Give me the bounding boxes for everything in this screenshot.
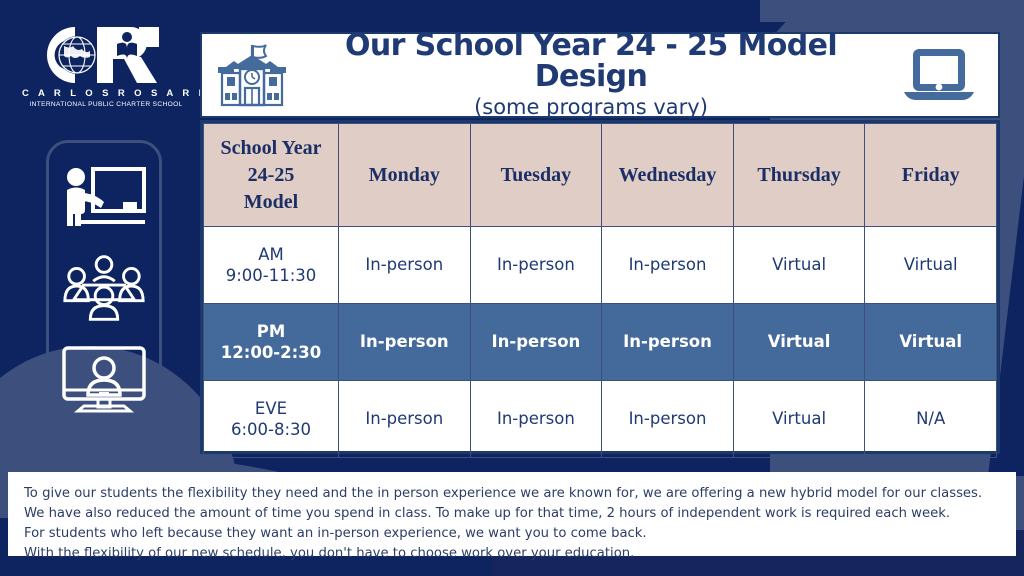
col-header-thursday: Thursday: [733, 124, 865, 227]
footer-line: For students who left because they want …: [24, 524, 1000, 544]
cell-eve-monday: In-person: [339, 381, 471, 458]
school-logo: C A R L O S R O S A R I O INTERNATIONAL …: [22, 24, 190, 116]
cell-am-monday: In-person: [339, 227, 471, 304]
row-label-eve: EVE 6:00-8:30: [204, 381, 339, 458]
table-header-row: School Year 24-25 Model Monday Tuesday W…: [204, 124, 997, 227]
cell-am-thursday: Virtual: [733, 227, 865, 304]
table-row: EVE 6:00-8:30 In-person In-person In-per…: [204, 381, 997, 458]
teacher-at-blackboard-icon: [60, 159, 148, 235]
session-name: EVE: [255, 399, 287, 418]
session-name: PM: [257, 322, 286, 341]
page-subtitle: (some programs vary): [302, 95, 880, 120]
cell-eve-tuesday: In-person: [470, 381, 602, 458]
icon-rail: [46, 140, 162, 436]
laptop-icon: [880, 46, 998, 104]
cell-pm-friday: Virtual: [865, 304, 997, 381]
col-header-line: 24-25: [248, 164, 295, 186]
cell-am-tuesday: In-person: [470, 227, 602, 304]
row-label-am: AM 9:00-11:30: [204, 227, 339, 304]
row-label-pm: PM 12:00-2:30: [204, 304, 339, 381]
footer-line: With the flexibility of our new schedule…: [24, 544, 1000, 564]
schedule-table: School Year 24-25 Model Monday Tuesday W…: [203, 123, 997, 458]
table-row: PM 12:00-2:30 In-person In-person In-per…: [204, 304, 997, 381]
logo-subwordmark: INTERNATIONAL PUBLIC CHARTER SCHOOL: [22, 101, 190, 108]
title-card: Our School Year 24 - 25 Model Design (so…: [200, 32, 1000, 118]
session-name: AM: [258, 245, 284, 264]
footer-line: To give our students the flexibility the…: [24, 484, 1000, 504]
logo-wordmark: C A R L O S R O S A R I O: [22, 88, 190, 99]
cell-pm-tuesday: In-person: [470, 304, 602, 381]
col-header-wednesday: Wednesday: [602, 124, 734, 227]
cell-eve-wednesday: In-person: [602, 381, 734, 458]
poster-canvas: C A R L O S R O S A R I O INTERNATIONAL …: [0, 0, 1024, 576]
group-meeting-icon: [60, 250, 148, 326]
header-titles: Our School Year 24 - 25 Model Design (so…: [302, 30, 880, 120]
col-header-line: Model: [244, 191, 298, 213]
footer-line: We have also reduced the amount of time …: [24, 504, 1000, 524]
schedule-body: AM 9:00-11:30 In-person In-person In-per…: [204, 227, 997, 458]
col-header-model: School Year 24-25 Model: [204, 124, 339, 227]
cell-eve-thursday: Virtual: [733, 381, 865, 458]
schedule-table-container: School Year 24-25 Model Monday Tuesday W…: [200, 120, 1000, 454]
session-time: 12:00-2:30: [221, 343, 321, 362]
session-time: 9:00-11:30: [226, 266, 317, 285]
page-title: Our School Year 24 - 25 Model Design: [302, 30, 880, 93]
background-wedge-accent: [760, 0, 820, 22]
cell-pm-monday: In-person: [339, 304, 471, 381]
cr-monogram-icon: [31, 24, 181, 86]
cell-pm-thursday: Virtual: [733, 304, 865, 381]
col-header-line: School Year: [221, 137, 322, 159]
col-header-tuesday: Tuesday: [470, 124, 602, 227]
video-conference-monitor-icon: [60, 341, 148, 417]
table-row: AM 9:00-11:30 In-person In-person In-per…: [204, 227, 997, 304]
school-building-icon: [202, 43, 302, 107]
schedule-head: School Year 24-25 Model Monday Tuesday W…: [204, 124, 997, 227]
cell-am-friday: Virtual: [865, 227, 997, 304]
col-header-monday: Monday: [339, 124, 471, 227]
cell-am-wednesday: In-person: [602, 227, 734, 304]
cell-pm-wednesday: In-person: [602, 304, 734, 381]
session-time: 6:00-8:30: [231, 420, 311, 439]
cell-eve-friday: N/A: [865, 381, 997, 458]
col-header-friday: Friday: [865, 124, 997, 227]
footer-note: To give our students the flexibility the…: [8, 472, 1016, 556]
